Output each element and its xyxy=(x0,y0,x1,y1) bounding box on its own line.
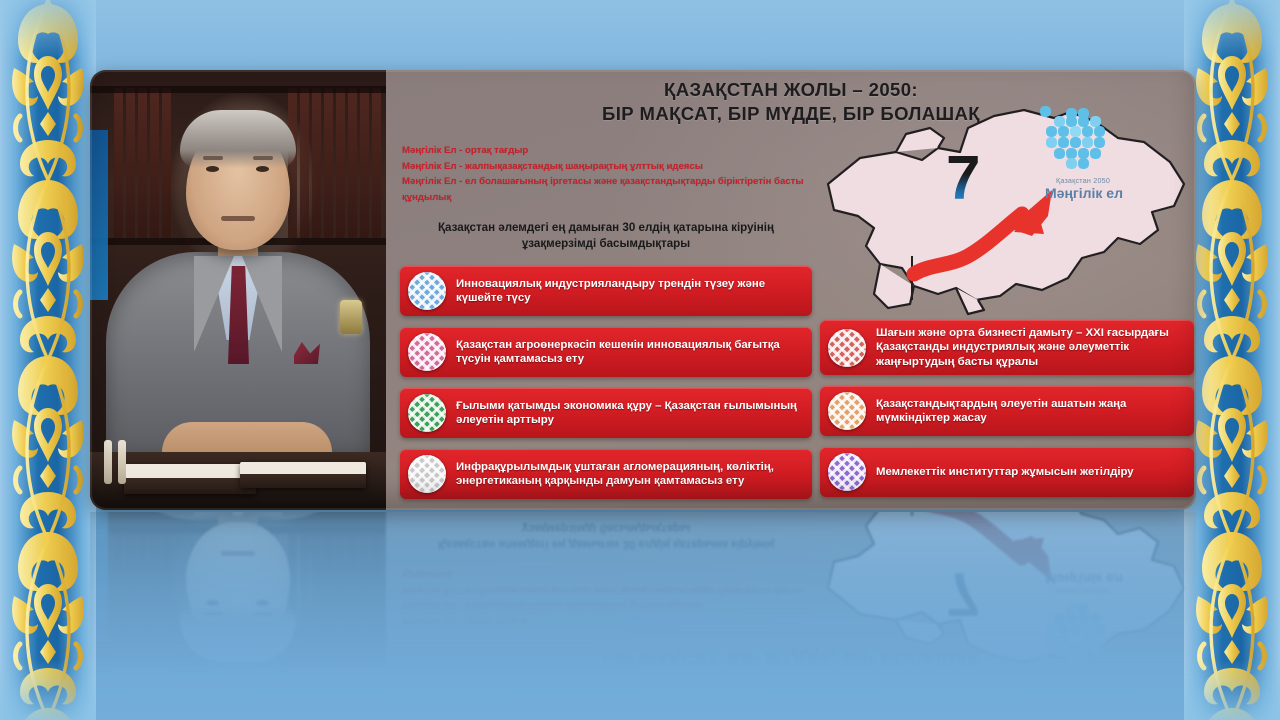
eyebrow-left xyxy=(203,612,223,616)
eyebrow-left xyxy=(203,156,223,160)
priority-item[interactable]: Қазақстандықтардың әлеуетін ашатын жаңа … xyxy=(820,386,1194,436)
priorities-left-column: Инновациялық индустрияландыру трендін тү… xyxy=(400,266,812,510)
emblem-caption: Қазақстан 2050 xyxy=(1018,176,1148,185)
number-seven-badge: 7 xyxy=(946,562,980,624)
priority-item[interactable]: Инфрақұрылымдық ұштаған агломерацияның, … xyxy=(400,449,812,499)
priority-dot-icon xyxy=(408,394,446,432)
neck xyxy=(218,512,258,534)
menggilik-el-definitions: Мәңгілік Ел - ортақ тағдыр Мәңгілік Ел -… xyxy=(402,567,822,629)
pen xyxy=(104,440,112,484)
priority-dot-icon xyxy=(828,392,866,430)
flag-decoration xyxy=(90,130,108,300)
eye-left xyxy=(206,166,219,172)
board-reflection: ҚАЗАҚСТАН ЖОЛЫ – 2050: БІР МАҚСАТ, БІР М… xyxy=(90,512,1196,702)
suit xyxy=(106,512,370,520)
menggilik-line: Мәңгілік Ел - ортақ тағдыр xyxy=(402,613,822,629)
menggilik-line: Мәңгілік Ел - жалпықазақстандық шаңырақт… xyxy=(402,159,822,175)
lapel-right xyxy=(242,512,282,516)
kazakhstan-map: 7 xyxy=(818,88,1194,318)
poster-board: ҚАЗАҚСТАН ЖОЛЫ – 2050: БІР МАҚСАТ, БІР М… xyxy=(90,70,1196,510)
shirt-collar xyxy=(212,512,264,516)
priority-text: Ғылыми қатымды экономика құру – Қазақста… xyxy=(456,399,802,428)
priority-text: Инновациялық индустрияландыру трендін тү… xyxy=(456,277,802,306)
book xyxy=(124,464,256,494)
poster-subtitle: Қазақстан әлемдегі ең дамыған 30 елдің қ… xyxy=(390,220,822,251)
title-line-1: ҚАЗАҚСТАН ЖОЛЫ – 2050: xyxy=(386,670,1196,694)
book xyxy=(240,462,366,488)
priority-text: Шағын және орта бизнесті дамыту – XXI ға… xyxy=(876,326,1184,369)
emblem-title: Мәңгілік ел xyxy=(1014,185,1154,201)
bookshelf-background xyxy=(90,512,386,702)
menggilik-line: Мәңгілік Ел - ел болашағының іргетасы жә… xyxy=(402,567,822,598)
menggilik-line: Мәңгілік Ел - ел болашағының іргетасы жә… xyxy=(402,174,822,205)
president-portrait xyxy=(90,512,386,702)
subtitle-line-1: Қазақстан әлемдегі ең дамыған 30 елдің қ… xyxy=(390,536,822,552)
poster-subtitle: Қазақстан әлемдегі ең дамыған 30 елдің қ… xyxy=(390,521,822,552)
priority-dot-icon xyxy=(828,453,866,491)
menggilik-el-emblem-icon xyxy=(1040,592,1114,666)
priority-item[interactable]: Мемлекеттік институттар жұмысын жетілдір… xyxy=(820,447,1194,497)
hair xyxy=(180,604,296,662)
ornament-border-right xyxy=(1184,0,1280,720)
priority-dot-icon xyxy=(828,329,866,367)
priority-dot-icon xyxy=(408,272,446,310)
priority-text: Қазақстандықтардың әлеуетін ашатын жаңа … xyxy=(876,397,1184,426)
eyebrow-right xyxy=(253,156,273,160)
priority-text: Инфрақұрылымдық ұштаған агломерацияның, … xyxy=(456,460,802,489)
eye-left xyxy=(206,600,219,606)
content-panel: ҚАЗАҚСТАН ЖОЛЫ – 2050: БІР МАҚСАТ, БІР М… xyxy=(386,70,1196,510)
priority-dot-icon xyxy=(408,455,446,493)
subtitle-line-2: ұзақмерзімді басымдықтары xyxy=(390,236,822,252)
face xyxy=(186,522,290,650)
emblem-title: Мәңгілік ел xyxy=(1014,571,1154,587)
slide-stage: ҚАЗАҚСТАН ЖОЛЫ – 2050: БІР МАҚСАТ, БІР М… xyxy=(0,0,1280,720)
menggilik-line: Мәңгілік Ел - ортақ тағдыр xyxy=(402,143,822,159)
president-portrait xyxy=(90,70,386,510)
menggilik-el-emblem-icon xyxy=(1040,106,1114,180)
priority-text: Қазақстан агроөнеркәсіп кешенін инноваци… xyxy=(456,338,802,367)
subtitle-line-1: Қазақстан әлемдегі ең дамыған 30 елдің қ… xyxy=(390,220,822,236)
priority-dot-icon xyxy=(408,333,446,371)
ornament-border-left xyxy=(0,0,96,720)
title-line-2: БІР МАҚСАТ, БІР МҮДДЕ, БІР БОЛАШАҚ xyxy=(386,647,1196,671)
menggilik-line: Мәңгілік Ел - жалпықазақстандық шаңырақт… xyxy=(402,598,822,614)
lapel-left xyxy=(194,256,234,352)
kazakhstan-map: 7 xyxy=(818,512,1194,684)
priorities-right-column: Шағын және орта бизнесті дамыту – XXI ға… xyxy=(820,320,1194,508)
eye-right xyxy=(256,166,269,172)
medal-icon xyxy=(340,300,362,334)
priority-text: Мемлекеттік институттар жұмысын жетілдір… xyxy=(876,465,1134,479)
menggilik-el-definitions: Мәңгілік Ел - ортақ тағдыр Мәңгілік Ел -… xyxy=(402,143,822,205)
priority-item[interactable]: Қазақстан агроөнеркәсіп кешенін инноваци… xyxy=(400,327,812,377)
priority-item[interactable]: Ғылыми қатымды экономика құру – Қазақста… xyxy=(400,388,812,438)
mouth xyxy=(221,216,255,221)
lapel-right xyxy=(242,256,282,352)
poster-title: ҚАЗАҚСТАН ЖОЛЫ – 2050: БІР МАҚСАТ, БІР М… xyxy=(386,647,1196,694)
mouth xyxy=(221,551,255,556)
eye-right xyxy=(256,600,269,606)
content-panel: ҚАЗАҚСТАН ЖОЛЫ – 2050: БІР МАҚСАТ, БІР М… xyxy=(386,512,1196,702)
eyebrow-right xyxy=(253,612,273,616)
hair xyxy=(180,110,296,168)
emblem-caption: Қазақстан 2050 xyxy=(1018,587,1148,596)
lapel-left xyxy=(194,512,234,516)
growth-arrow xyxy=(914,512,1052,582)
priority-item[interactable]: Инновациялық индустрияландыру трендін тү… xyxy=(400,266,812,316)
subtitle-line-2: ұзақмерзімді басымдықтары xyxy=(390,521,822,537)
number-seven-badge: 7 xyxy=(946,148,980,210)
pen xyxy=(118,440,126,484)
priority-item[interactable]: Шағын және орта бизнесті дамыту – XXI ға… xyxy=(820,320,1194,375)
